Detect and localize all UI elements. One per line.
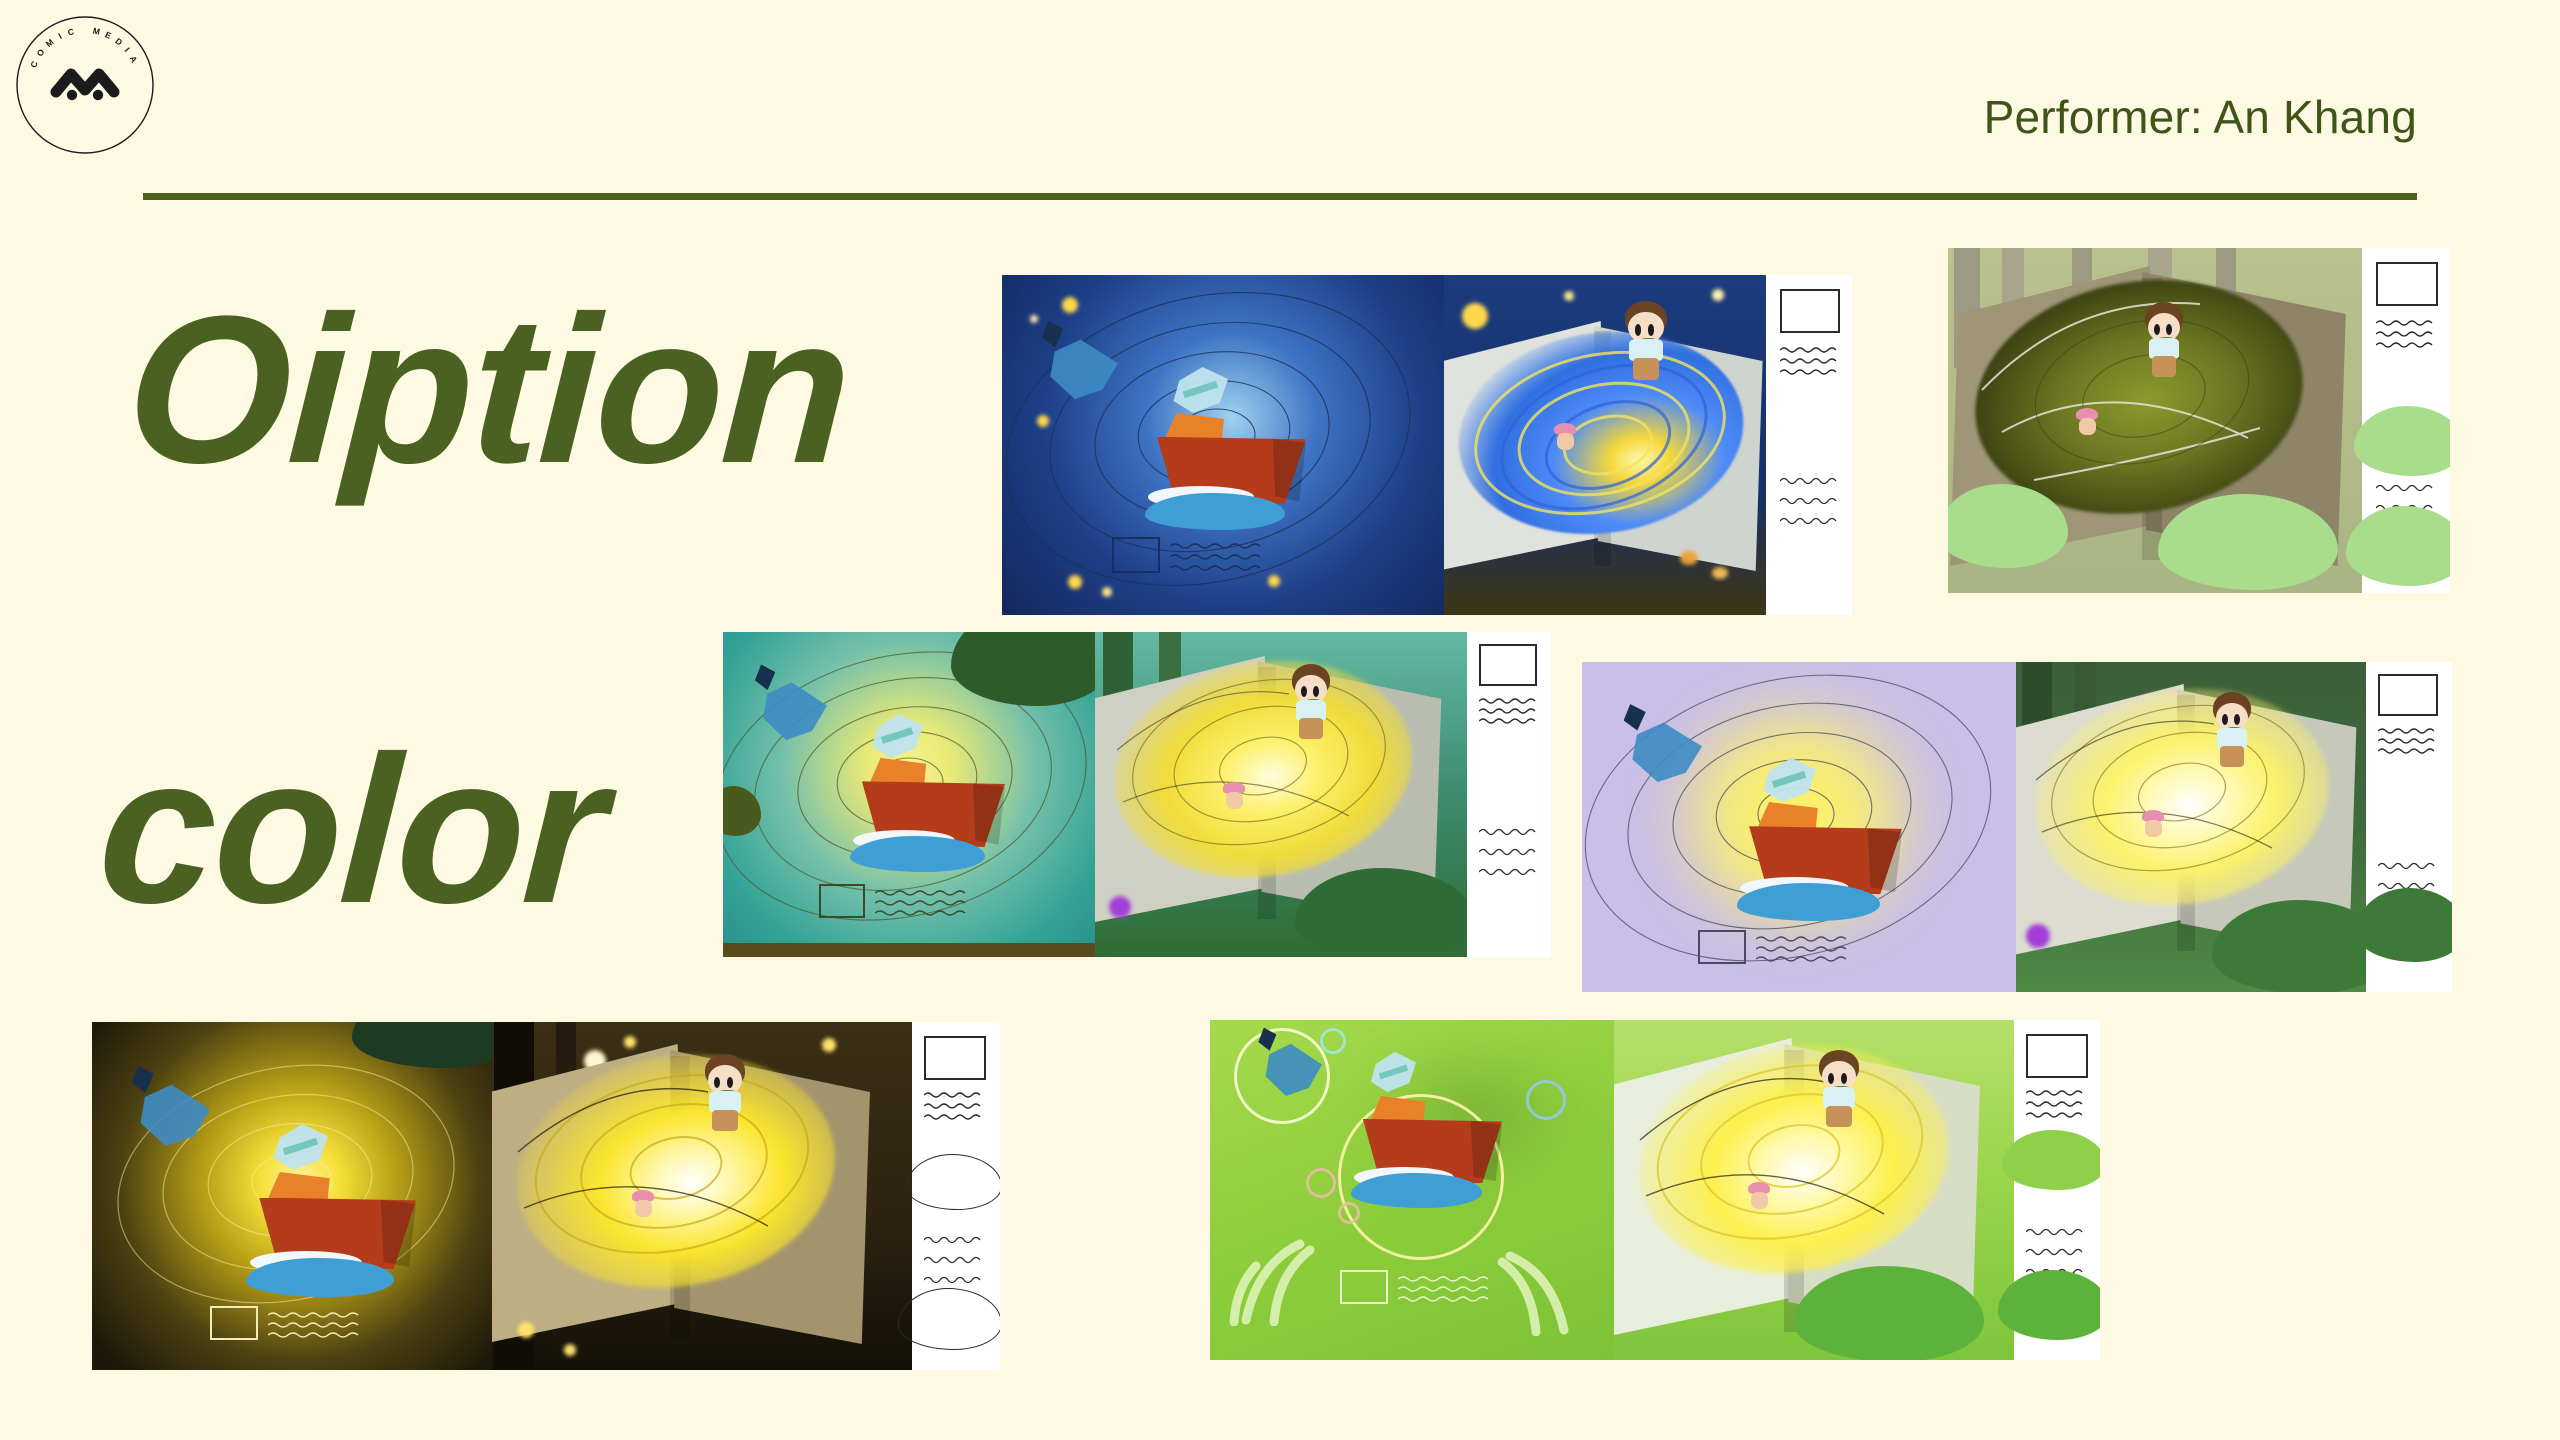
bubble-icon	[1320, 1028, 1346, 1054]
firefly-icon	[518, 1322, 534, 1338]
whale-icon	[136, 1078, 210, 1146]
illustration-panel-6[interactable]	[1210, 1020, 2100, 1360]
slide-root: C O M I C M E D I A A C A D E M Y	[0, 0, 2560, 1440]
illustration-panel-5[interactable]	[92, 1022, 1000, 1370]
boat-icon	[1154, 413, 1306, 521]
note-card	[912, 1022, 1000, 1370]
mushroom-light	[1712, 567, 1728, 579]
boy-character	[2144, 306, 2184, 376]
whale-icon	[1262, 1038, 1322, 1096]
panel-4-right-scene	[2016, 662, 2452, 992]
vortex-swirl-lines	[1458, 333, 1744, 533]
boat-icon	[256, 1172, 416, 1288]
performer-label: Performer: An Khang	[1984, 90, 2417, 144]
mountain-m-mark	[56, 74, 114, 100]
cloud-outline	[898, 1288, 1000, 1350]
vortex-swirl-lines	[1638, 1046, 1950, 1272]
boat-icon	[1360, 1096, 1502, 1200]
ground-strip	[723, 943, 1095, 957]
panel-6-right-scene	[1614, 1020, 2100, 1360]
bush-shape	[2346, 506, 2450, 586]
lantern-icon	[1170, 367, 1228, 413]
page-title-line-2: color	[95, 730, 609, 930]
boy-character	[1291, 668, 1331, 738]
svg-text:M: M	[44, 37, 56, 49]
bush-shape	[2356, 888, 2452, 962]
vortex-swirl-lines	[1113, 662, 1413, 876]
stamp-box-with-squiggles	[210, 1306, 390, 1348]
vortex-swirl-lines	[2034, 690, 2330, 904]
tiny-pink-figure	[1748, 1182, 1770, 1208]
tiny-pink-figure	[2142, 810, 2164, 836]
illustration-panel-2[interactable]	[1948, 248, 2450, 593]
svg-text:O: O	[35, 47, 47, 59]
svg-text:D: D	[113, 36, 124, 48]
tiny-pink-figure	[1223, 782, 1245, 808]
firefly-icon	[564, 1344, 576, 1356]
boy-character	[1624, 305, 1668, 379]
svg-text:E: E	[104, 29, 114, 41]
panel-3-left-scene	[723, 632, 1095, 957]
stamp-box-with-squiggles	[819, 884, 999, 926]
svg-text:M: M	[92, 26, 101, 37]
bubble-icon	[1306, 1168, 1336, 1198]
header-divider	[143, 193, 2417, 200]
whale-icon	[1046, 333, 1118, 399]
lantern-icon	[869, 714, 923, 758]
stamp-box-with-squiggles	[1112, 537, 1292, 579]
tiny-pink-figure	[632, 1190, 654, 1216]
cloud-outline	[906, 1154, 1000, 1210]
stamp-box-with-squiggles	[1698, 930, 1878, 972]
svg-text:I: I	[57, 31, 64, 41]
firefly-icon	[1712, 289, 1724, 301]
bush-shape	[1998, 1270, 2100, 1340]
illustration-panel-1[interactable]	[1002, 275, 1852, 615]
firefly-icon	[1037, 415, 1049, 427]
lantern-icon	[1368, 1052, 1416, 1092]
note-card	[1467, 632, 1551, 957]
firefly-icon	[1030, 315, 1038, 323]
firefly-icon	[1268, 575, 1280, 587]
boy-character	[1818, 1054, 1860, 1126]
mushroom-light	[1680, 551, 1698, 565]
panel-3-right-scene	[1095, 632, 1551, 957]
illustration-panel-4[interactable]	[1582, 662, 2452, 992]
panel-6-left-scene	[1210, 1020, 1620, 1360]
bubble-icon	[1526, 1080, 1566, 1120]
panel-5-right-scene	[492, 1022, 1000, 1370]
note-card	[2366, 662, 2452, 992]
bush-shape	[2002, 1130, 2100, 1190]
panel-5-left-scene	[92, 1022, 492, 1370]
illustration-panel-3[interactable]	[723, 632, 1551, 957]
boy-character	[704, 1058, 746, 1130]
whale-icon	[1628, 716, 1702, 782]
vortex-swirl-lines	[516, 1056, 836, 1286]
tiny-pink-figure	[1554, 423, 1576, 449]
tiny-pink-figure	[2076, 408, 2098, 434]
panel-1-right-scene	[1444, 275, 1852, 615]
svg-text:C: C	[28, 60, 40, 69]
whale-icon	[759, 676, 827, 740]
firefly-icon	[1068, 575, 1082, 589]
stamp-box-with-squiggles	[1340, 1270, 1520, 1310]
bush-shape	[2354, 406, 2450, 476]
lantern-icon	[1760, 758, 1816, 802]
magic-sparkle	[1109, 896, 1131, 918]
magic-sparkle	[2026, 924, 2050, 948]
note-card	[1766, 275, 1852, 615]
page-title-line-1: Oiption	[123, 290, 854, 490]
bubble-icon	[1338, 1202, 1360, 1224]
note-card	[2014, 1020, 2100, 1360]
boy-character	[2212, 696, 2252, 766]
firefly-icon	[1062, 297, 1078, 313]
grass-tuft	[1226, 1200, 1336, 1326]
comic-media-academy-logo: C O M I C M E D I A A C A D E M Y	[14, 14, 156, 156]
panel-2-scene	[1948, 248, 2368, 593]
firefly-icon	[1564, 291, 1574, 301]
lantern-icon	[270, 1124, 328, 1170]
firefly-icon	[1102, 587, 1112, 597]
svg-text:I: I	[123, 46, 132, 54]
svg-text:A: A	[128, 54, 140, 64]
panel-4-left-scene	[1582, 662, 2016, 992]
boat-icon	[859, 758, 1005, 864]
svg-text:C: C	[67, 26, 76, 37]
vortex-swirl-lines	[1974, 282, 2304, 512]
boat-icon	[1746, 802, 1902, 912]
panel-1-left-scene	[1002, 275, 1444, 615]
note-card	[2362, 248, 2450, 593]
